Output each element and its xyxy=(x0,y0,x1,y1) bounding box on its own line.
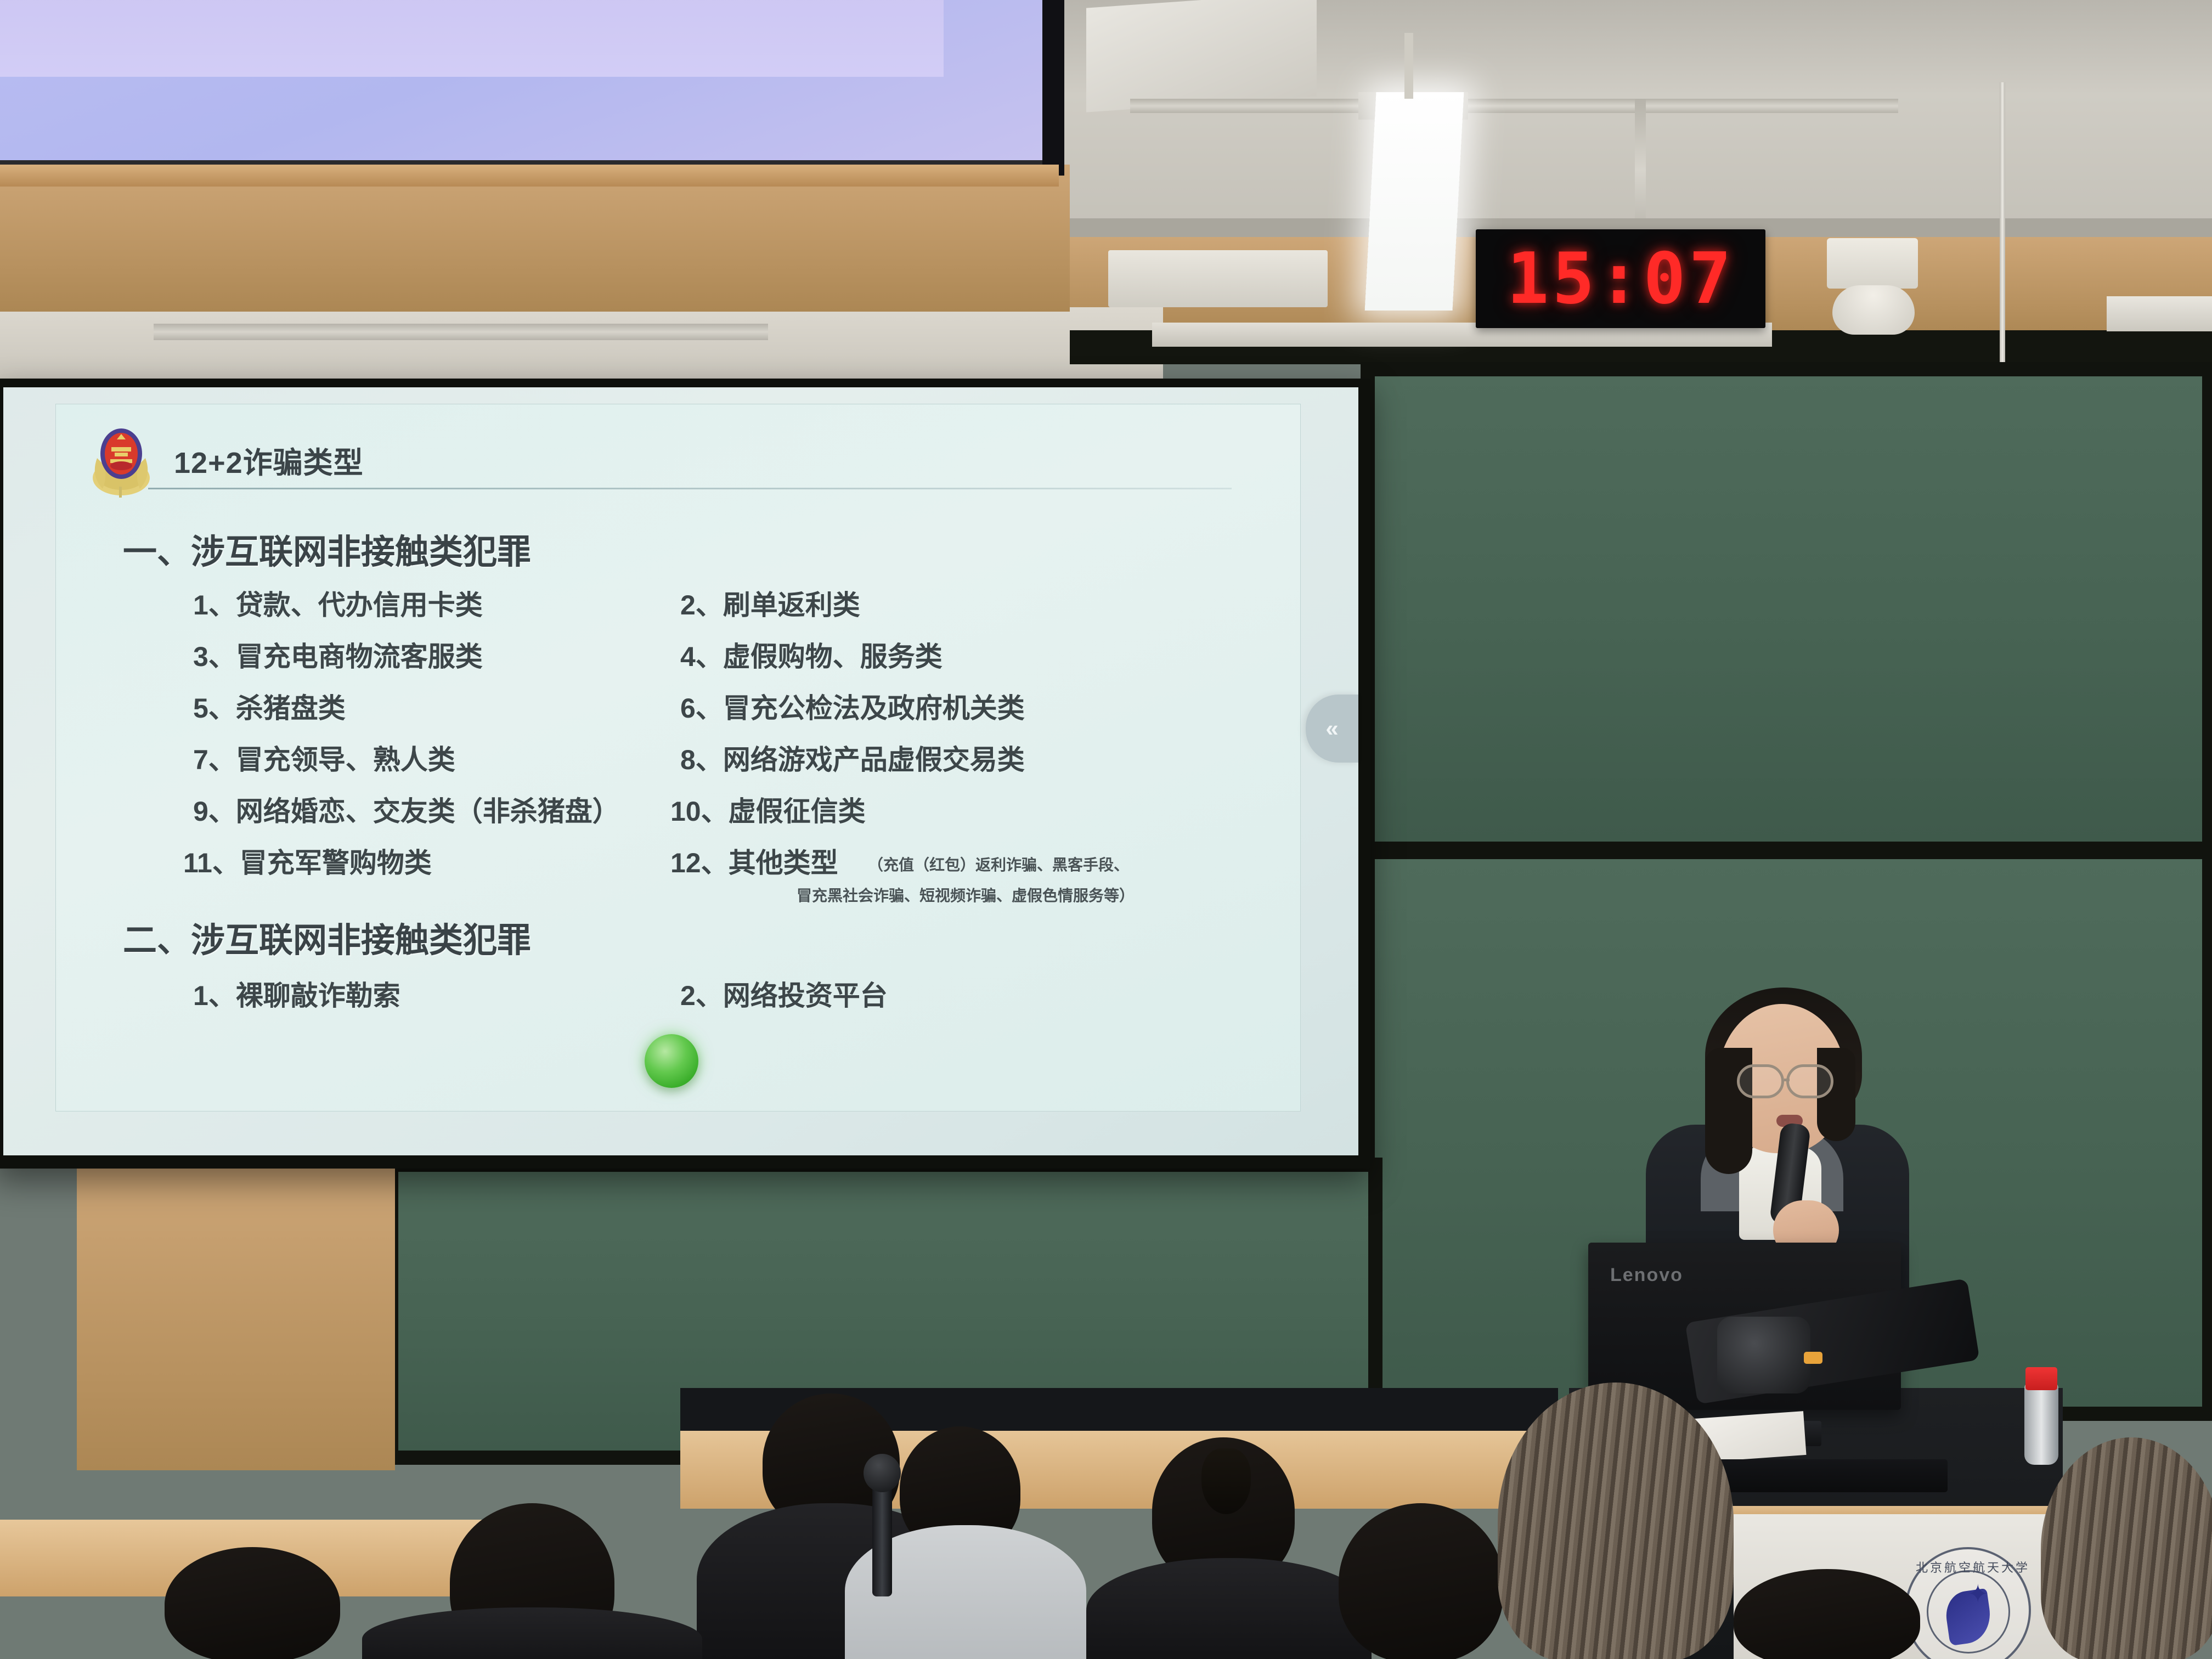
ceiling-duct xyxy=(1086,0,1317,112)
list-item: 10、虚假征信类 xyxy=(670,789,866,829)
audience-shoulders xyxy=(1086,1558,1372,1659)
water-bottle xyxy=(2024,1383,2058,1465)
secondary-display xyxy=(0,0,1053,169)
speaker-glasses-bridge xyxy=(1784,1079,1790,1081)
list-item: 6、冒充公检法及政府机关类 xyxy=(680,686,1025,726)
list-item: 11、冒充军警购物类 xyxy=(183,841,432,881)
list-item: 5、杀猪盘类 xyxy=(193,686,346,726)
projection-screen-frame: 12+2诈骗类型 一、涉互联网非接触类犯罪 1、贷款、代办信用卡类 3、冒充电商… xyxy=(0,379,1370,1169)
water-bottle-cap xyxy=(2025,1367,2057,1390)
list-item: 1、裸聊敲诈勒索 xyxy=(193,974,400,1013)
projection-screen[interactable]: 12+2诈骗类型 一、涉互联网非接触类犯罪 1、贷款、代办信用卡类 3、冒充电商… xyxy=(3,387,1358,1155)
monitor-arm-indicator xyxy=(1804,1352,1822,1364)
list-item: 2、网络投资平台 xyxy=(680,974,888,1013)
dome-camera xyxy=(1832,285,1915,335)
monitor-arm-hinge xyxy=(1717,1317,1810,1393)
section-2-heading: 二、涉互联网非接触类犯罪 xyxy=(123,912,531,962)
university-emblem-text: 北京航空航天大学 xyxy=(1916,1558,2020,1576)
list-item-12: 12、其他类型 xyxy=(670,841,838,881)
wall-access-plate xyxy=(2107,296,2212,331)
projector-housing xyxy=(1108,250,1328,307)
wall-wood-lower-left xyxy=(77,1163,395,1470)
collapse-panel-tab[interactable]: « xyxy=(1306,695,1358,763)
wall-light-band xyxy=(0,307,1163,384)
list-item: 9、网络婚恋、交友类（非杀猪盘） xyxy=(193,789,620,829)
audience-head xyxy=(165,1547,340,1659)
slide-title: 12+2诈骗类型 xyxy=(174,438,364,482)
speaker-glasses-right-lens xyxy=(1786,1064,1833,1098)
secondary-display-bezel xyxy=(1042,0,1064,176)
audience-ponytail xyxy=(1201,1448,1251,1514)
list-item: 1、贷款、代办信用卡类 xyxy=(193,583,483,623)
display-shelf xyxy=(0,165,1059,187)
hanging-mic-cable xyxy=(2000,82,2005,390)
laser-pointer-dot xyxy=(645,1034,698,1088)
clock-time: 15:07 xyxy=(1506,238,1734,320)
presentation-slide[interactable]: 12+2诈骗类型 一、涉互联网非接触类犯罪 1、贷款、代办信用卡类 3、冒充电商… xyxy=(55,404,1301,1111)
list-item: 3、冒充电商物流客服类 xyxy=(193,635,483,674)
ceiling-pipe-horizontal xyxy=(1130,99,1898,113)
section-1-heading: 一、涉互联网非接触类犯罪 xyxy=(123,524,531,573)
wall-wood-left xyxy=(0,165,1070,312)
china-police-badge-icon xyxy=(86,425,156,498)
university-emblem-star: ✦ xyxy=(1967,1581,1989,1606)
list-item-12-note-line1: （充值（红包）返利诈骗、黑客手段、 xyxy=(868,853,1129,875)
audience-microphone-stand xyxy=(872,1476,892,1596)
list-item-12-note-line2: 冒充黑社会诈骗、短视频诈骗、虚假色情服务等） xyxy=(797,884,1135,906)
lecture-hall-scene: 15:07 xyxy=(0,0,2212,1659)
digital-wall-clock: 15:07 xyxy=(1476,229,1765,328)
camera-mount xyxy=(1827,238,1918,289)
screen-mount-rail xyxy=(154,324,768,340)
title-divider xyxy=(148,488,1232,489)
slide-title-row: 12+2诈骗类型 xyxy=(86,431,1249,492)
list-item: 2、刷单返利类 xyxy=(680,583,860,623)
audience-shoulders xyxy=(362,1607,702,1659)
keyboard[interactable] xyxy=(1695,1459,1948,1492)
audience-head xyxy=(1339,1503,1503,1659)
audience-fur-hood xyxy=(2041,1437,2212,1659)
list-item: 4、虚假购物、服务类 xyxy=(680,635,943,674)
secondary-display-content xyxy=(0,0,944,77)
monitor-brand-label: Lenovo xyxy=(1610,1265,1683,1286)
ceiling-led-panel-light xyxy=(1365,92,1464,311)
audience-fur-hood xyxy=(1498,1383,1734,1659)
led-panel-hanger xyxy=(1404,33,1413,99)
list-item: 8、网络游戏产品虚假交易类 xyxy=(680,738,1025,777)
speaker-glasses-left-lens xyxy=(1737,1064,1784,1098)
audience-microphone-head xyxy=(864,1454,901,1492)
greenboard-right xyxy=(1361,362,2212,856)
list-item: 7、冒充领导、熟人类 xyxy=(193,738,455,777)
